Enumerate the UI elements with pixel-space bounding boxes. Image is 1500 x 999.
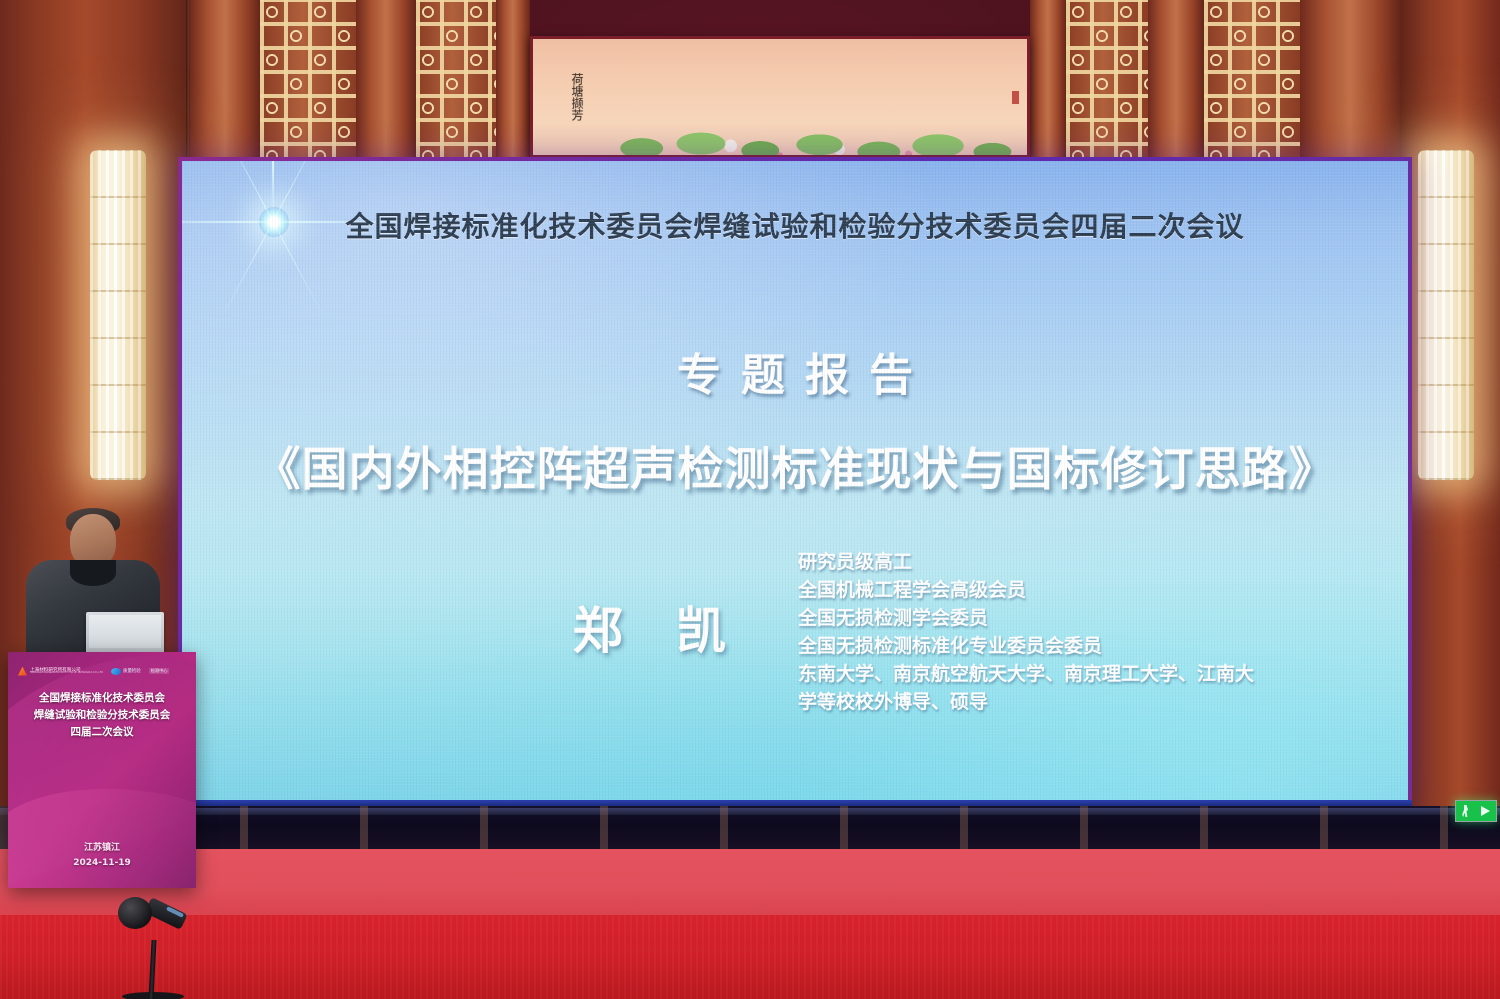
wall-sconce-right [1418,150,1474,480]
led-screen: 全国焊接标准化技术委员会焊缝试验和检验分技术委员会四届二次会议 专题报告 《国内… [182,161,1408,803]
podium-date: 2024-11-19 [8,856,196,872]
wood-column [1300,0,1400,170]
credential-line: 东南大学、南京航空航天大学、南京理工大学、江南大 [798,661,1408,689]
sponsor-logo-primary: 上海材料研究所有限公司 SHANGHAI RESEARCH INSTITUTE … [18,667,103,676]
running-person-icon [1462,805,1468,817]
slide-topic-label: 专题报告 [182,339,1408,403]
lattice-panel [416,0,496,170]
painting-calligraphy: 荷塘撷芳 [545,73,585,151]
podium-location: 江苏镇江 [8,841,196,857]
podium-conference-title: 全国焊接标准化技术委员会 焊缝试验和检验分技术委员会 四届二次会议 [14,690,190,741]
wall-painting: 荷塘撷芳 [530,36,1030,158]
podium-title-line: 四届二次会议 [14,724,190,741]
podium-footer: 江苏镇江 2024-11-19 [8,841,196,873]
emergency-exit-sign [1455,800,1497,822]
lattice-panel [1066,0,1148,170]
lattice-panel [260,0,356,170]
sponsor-logo-tertiary: 检测中心 [149,668,170,674]
slide-title: 《国内外相控阵超声检测标准现状与国标修订思路》 [182,433,1408,499]
sponsor-logo-name: 上海材料研究所有限公司 SHANGHAI RESEARCH INSTITUTE … [30,667,103,675]
red-carpet-lower [0,915,1500,999]
podium-title-line: 焊缝试验和检验分技术委员会 [14,707,190,724]
slide-header: 全国焊接标准化技术委员会焊缝试验和检验分技术委员会四届二次会议 [182,205,1408,245]
credential-line: 全国机械工程学会高级会员 [798,577,1408,605]
painting-foliage [533,103,1027,155]
wood-column [1030,0,1066,170]
podium-logo-row: 上海材料研究所有限公司 SHANGHAI RESEARCH INSTITUTE … [18,662,186,680]
credential-line: 全国无损检测学会委员 [798,605,1408,633]
credential-line: 研究员级高工 [798,549,1408,577]
wood-column [356,0,416,170]
wood-column [1148,0,1204,170]
conference-hall-scene: 荷塘撷芳 全国焊接标准化技术委员会焊缝试验和检验分技术委员会四届二次会议 [0,0,1500,999]
wall-sconce-left [90,150,146,480]
credential-line: 全国无损检测标准化专业委员会委员 [798,633,1408,661]
led-screen-bezel: 全国焊接标准化技术委员会焊缝试验和检验分技术委员会四届二次会议 专题报告 《国内… [178,157,1412,807]
wood-column [496,0,530,170]
speaker-credentials: 研究员级高工 全国机械工程学会高级会员 全国无损检测学会委员 全国无损检测标准化… [792,549,1408,717]
laptop [86,612,164,656]
stage-truss [0,806,1500,854]
arrow-right-icon [1481,806,1490,816]
triangle-logo-icon [18,667,27,676]
painting-seal [1012,91,1019,104]
speaker-name: 郑 凯 [182,549,792,663]
red-carpet-upper [0,849,1500,917]
swoosh-logo-icon [111,668,121,675]
wood-column [190,0,260,170]
lattice-panel [1204,0,1300,170]
microphone-head [118,897,152,929]
podium-sign: 上海材料研究所有限公司 SHANGHAI RESEARCH INSTITUTE … [8,652,196,888]
presenter-collar [70,560,116,586]
podium-title-line: 全国焊接标准化技术委员会 [14,690,190,707]
credential-line: 学等校校外博导、硕导 [798,689,1408,717]
sponsor-logo-secondary: 质量检验 [111,668,141,675]
speaker-block: 郑 凯 研究员级高工 全国机械工程学会高级会员 全国无损检测学会委员 全国无损检… [182,549,1408,717]
